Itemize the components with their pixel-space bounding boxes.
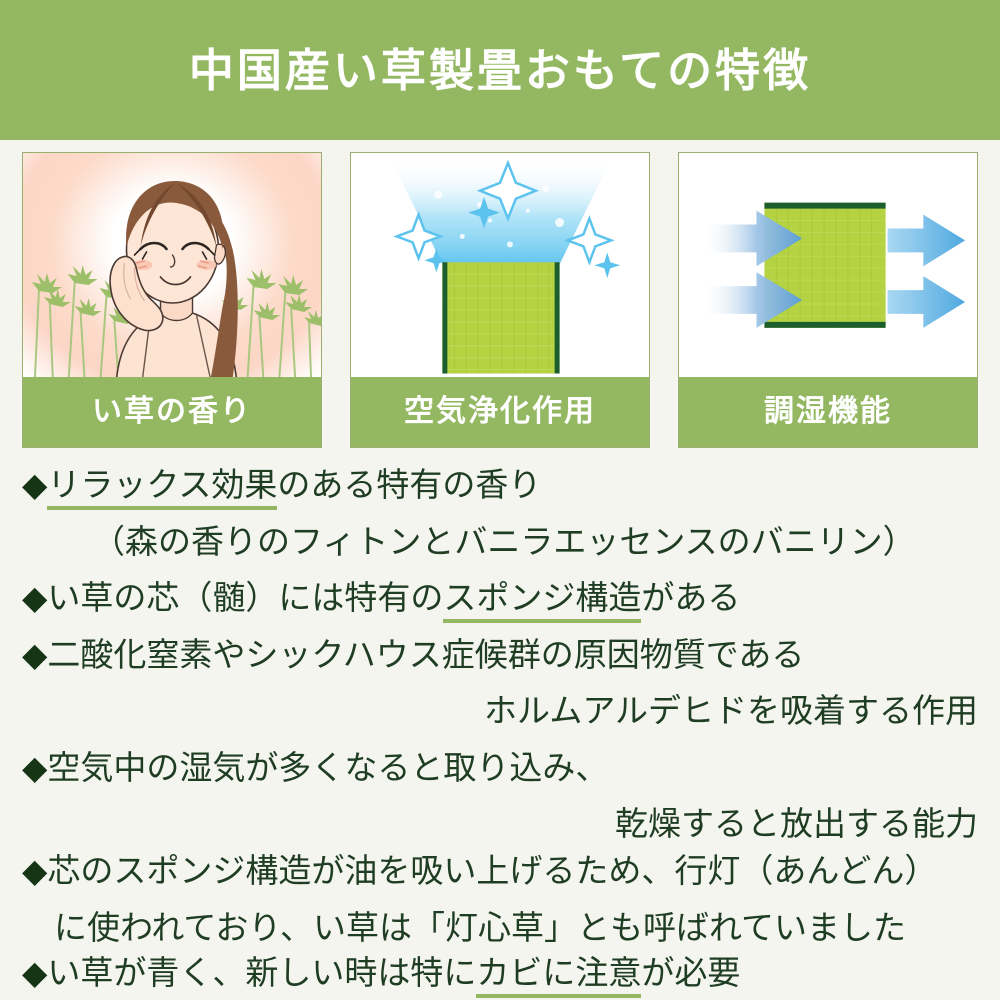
feature-text: ホルムアルデヒドを吸着する作用 bbox=[484, 691, 978, 730]
card-label-text: 空気浄化作用 bbox=[404, 397, 596, 427]
feature-card-air-purification[interactable]: 空気浄化作用 bbox=[350, 152, 650, 448]
highlighted-term: スポンジ構造 bbox=[443, 578, 641, 623]
feature-line: ホルムアルデヒドを吸着する作用 bbox=[22, 694, 978, 727]
highlighted-term: リラックス効果 bbox=[47, 465, 277, 510]
tatami-sparkle-icon bbox=[351, 153, 649, 377]
feature-text: い草の芯（髄）には特有の bbox=[47, 578, 443, 617]
diamond-bullet-icon: ◆ bbox=[22, 953, 47, 992]
card-label-air-purification: 空気浄化作用 bbox=[351, 377, 649, 447]
card-label-text: い草の香り bbox=[92, 397, 252, 427]
feature-card-humidity-control[interactable]: 調湿機能 bbox=[678, 152, 978, 448]
feature-text: （森の香りのフィトンとバニラエッセンスのバニリン） bbox=[92, 522, 916, 561]
feature-text: 芯のスポンジ構造が油を吸い上げるため、行灯（あんどん） bbox=[47, 851, 937, 890]
header-banner: 中国産い草製畳おもての特徴 bbox=[0, 0, 1000, 140]
diamond-bullet-icon: ◆ bbox=[22, 748, 47, 787]
feature-line: （森の香りのフィトンとバニラエッセンスのバニリン） bbox=[92, 525, 1000, 558]
air-purification-illustration bbox=[351, 153, 649, 379]
feature-card-row: い草の香り bbox=[22, 152, 978, 448]
diamond-bullet-icon: ◆ bbox=[22, 635, 47, 674]
page-title: 中国産い草製畳おもての特徴 bbox=[189, 48, 811, 93]
feature-text: が必要 bbox=[641, 953, 740, 992]
feature-line: ◆リラックス効果のある特有の香り bbox=[22, 468, 978, 501]
infographic-page: 中国産い草製畳おもての特徴 bbox=[0, 0, 1000, 1000]
feature-card-scent[interactable]: い草の香り bbox=[22, 152, 322, 448]
feature-text: 二酸化窒素やシックハウス症候群の原因物質である bbox=[47, 635, 804, 674]
scent-illustration bbox=[23, 153, 321, 379]
feature-line: に使われており、い草は「灯心草」とも呼ばれていました bbox=[54, 911, 1000, 944]
feature-text: い草が青く、新しい時は特に bbox=[47, 953, 476, 992]
feature-text: 空気中の湿気が多くなると取り込み、 bbox=[47, 748, 608, 787]
card-label-humidity-control: 調湿機能 bbox=[679, 377, 977, 447]
feature-list: ◆リラックス効果のある特有の香り（森の香りのフィトンとバニラエッセンスのバニリン… bbox=[0, 456, 1000, 1000]
highlighted-term: カビに注意 bbox=[476, 953, 641, 998]
diamond-bullet-icon: ◆ bbox=[22, 851, 47, 890]
diamond-bullet-icon: ◆ bbox=[22, 465, 47, 504]
card-label-scent: い草の香り bbox=[23, 377, 321, 447]
tatami-airflow-icon bbox=[679, 153, 977, 377]
feature-line: ◆芯のスポンジ構造が油を吸い上げるため、行灯（あんどん） bbox=[22, 854, 978, 887]
humidity-control-illustration bbox=[679, 153, 977, 379]
feature-line: ◆空気中の湿気が多くなると取り込み、 bbox=[22, 751, 978, 784]
feature-text: に使われており、い草は「灯心草」とも呼ばれていました bbox=[54, 908, 906, 947]
card-label-text: 調湿機能 bbox=[764, 397, 892, 427]
feature-text: のある特有の香り bbox=[277, 465, 541, 504]
diamond-bullet-icon: ◆ bbox=[22, 578, 47, 617]
feature-line: ◆い草が青く、新しい時は特にカビに注意が必要 bbox=[22, 956, 978, 989]
feature-line: 乾燥すると放出する能力 bbox=[22, 807, 978, 840]
feature-line: ◆二酸化窒素やシックハウス症候群の原因物質である bbox=[22, 638, 978, 671]
feature-text: 乾燥すると放出する能力 bbox=[615, 804, 978, 843]
feature-text: がある bbox=[641, 578, 740, 617]
feature-line: ◆い草の芯（髄）には特有のスポンジ構造がある bbox=[22, 581, 978, 614]
woman-illustration-icon bbox=[65, 163, 280, 379]
